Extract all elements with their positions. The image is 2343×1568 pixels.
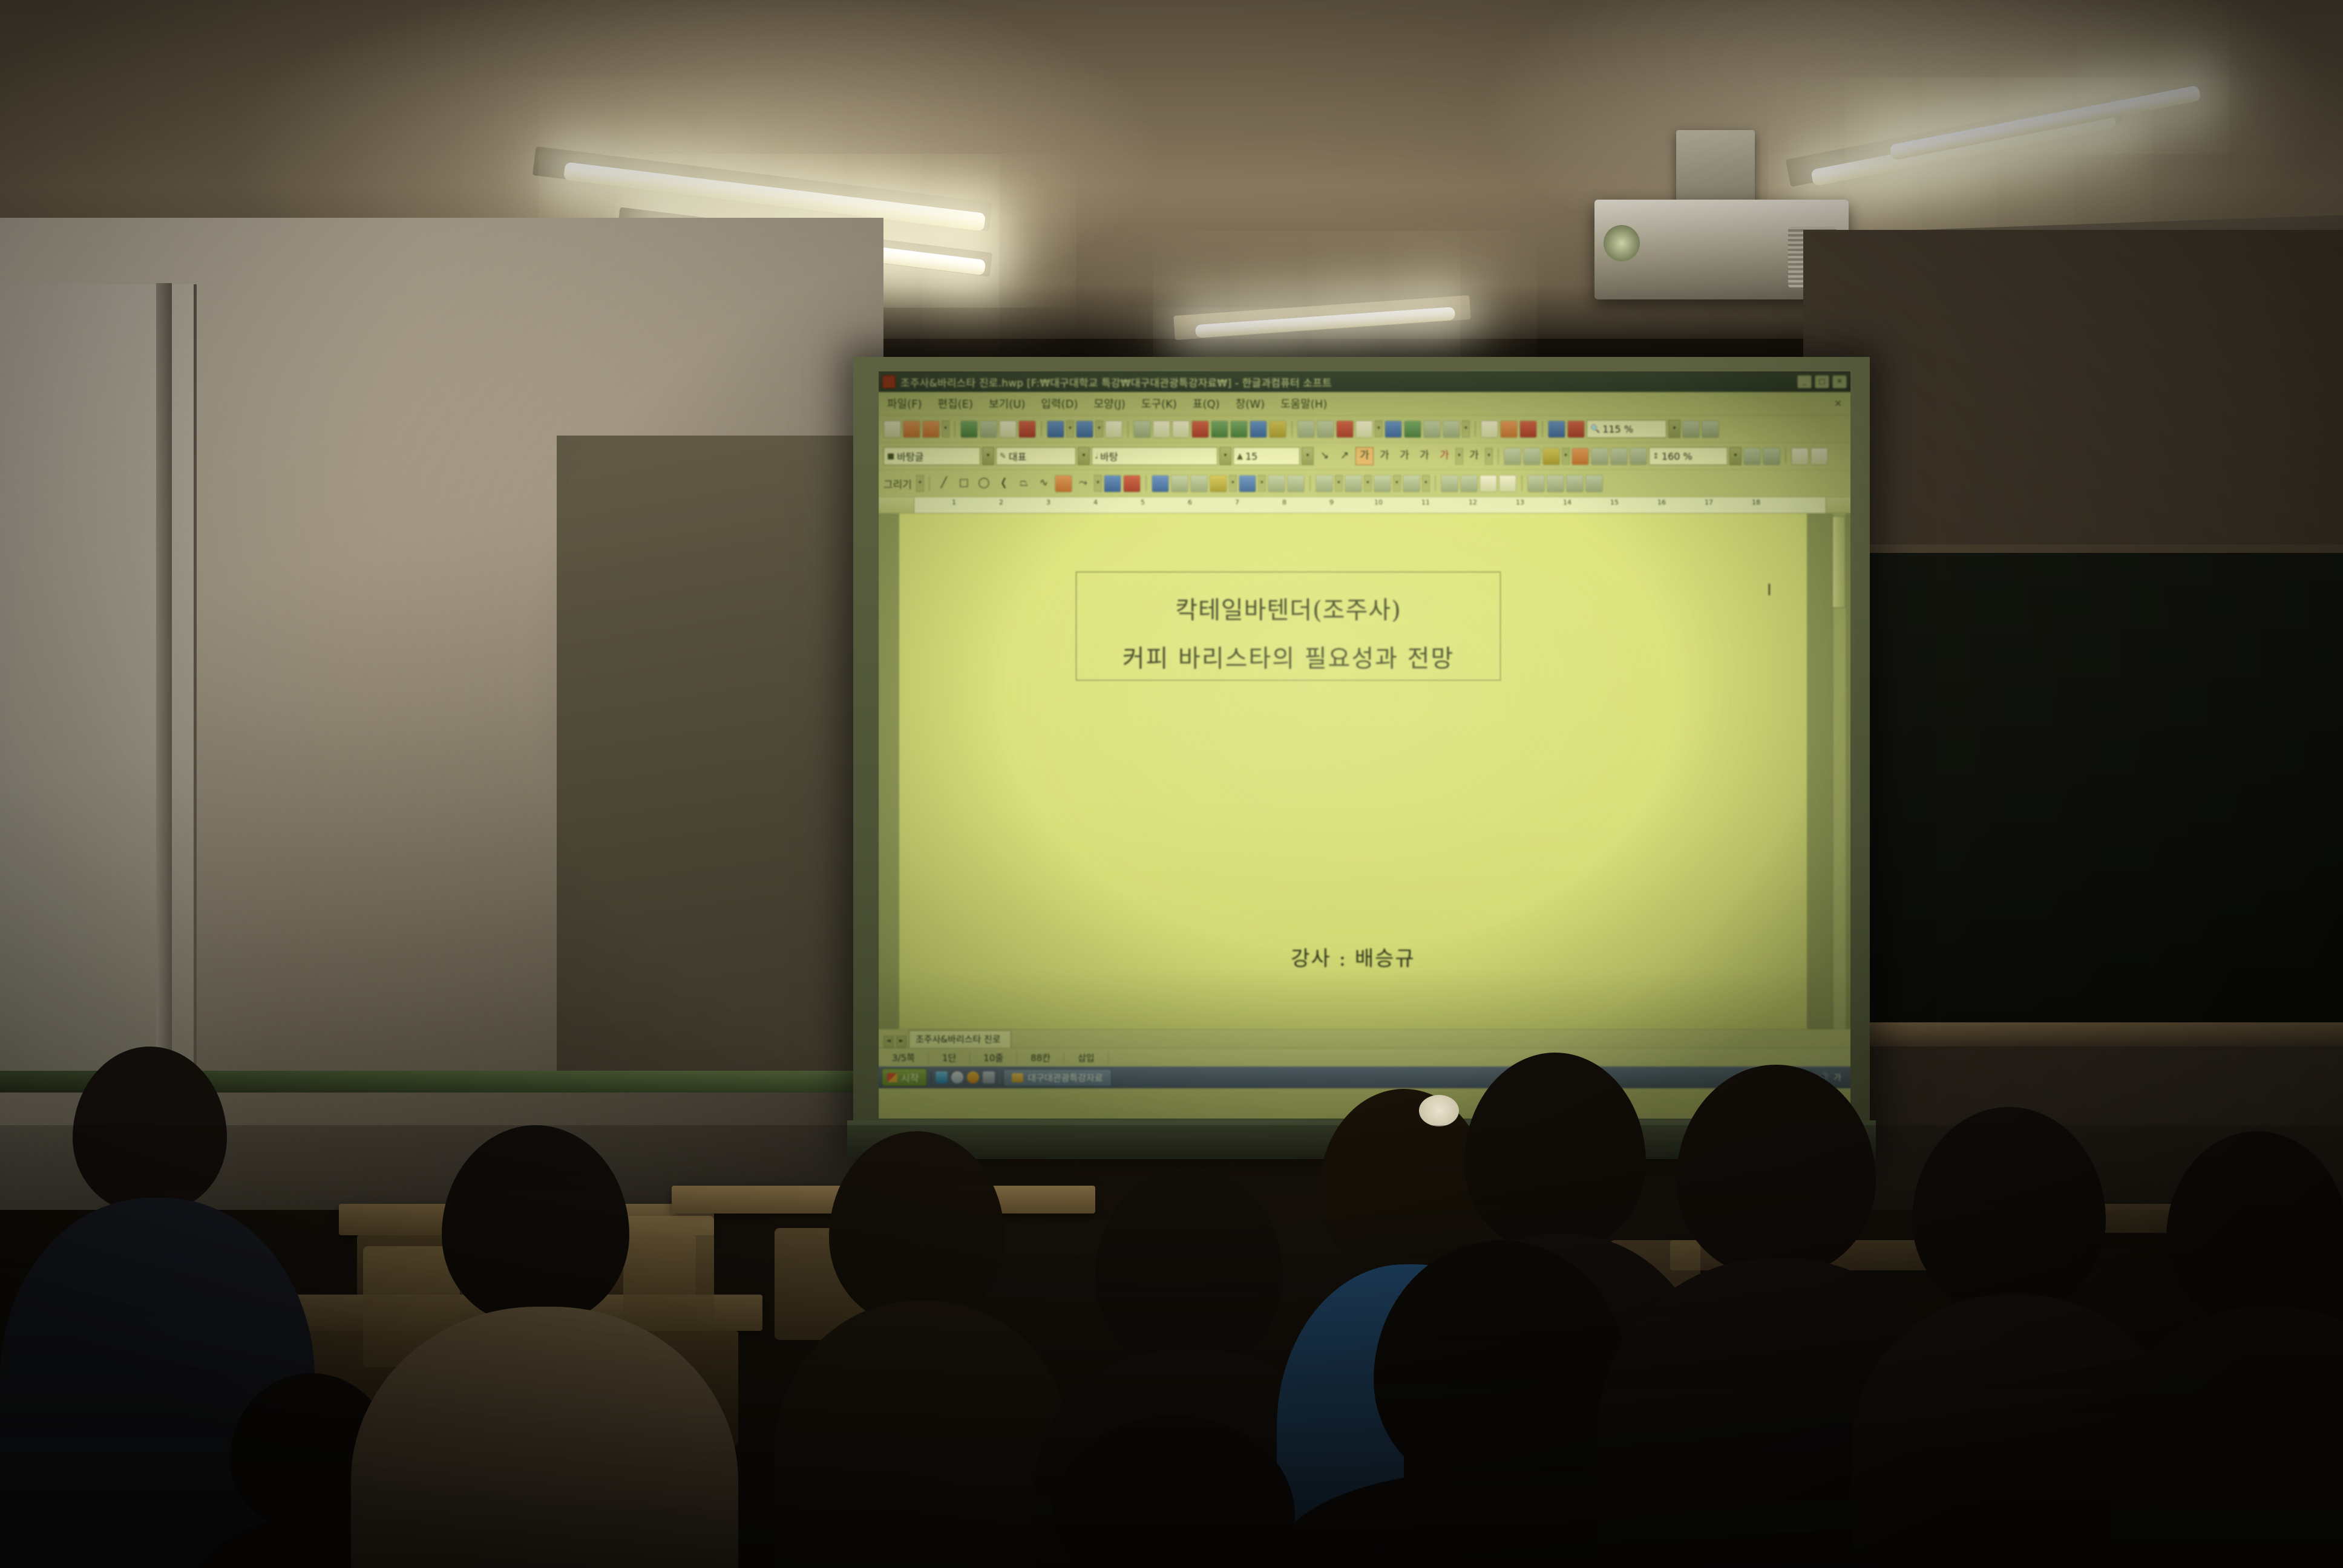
document-tab[interactable]: 조주사&바리스타 진로	[909, 1030, 1011, 1048]
close-document-icon[interactable]: ✕	[1834, 398, 1842, 409]
flip-tool-icon[interactable]	[1190, 475, 1208, 492]
align-right-icon[interactable]	[1610, 448, 1628, 465]
undo-icon[interactable]	[1047, 420, 1064, 438]
line-color-dropdown-icon[interactable]: ▾	[1258, 475, 1266, 492]
ruler-tick-7: 7	[1235, 498, 1239, 506]
minimize-button[interactable]: _	[1797, 375, 1812, 388]
table-dropdown-icon[interactable]: ▾	[1375, 420, 1383, 437]
hancom-icon	[882, 375, 896, 388]
ruler-tick-2: 2	[999, 498, 1003, 506]
footnote-icon[interactable]	[1423, 420, 1441, 438]
bookmark-icon[interactable]	[1481, 420, 1498, 438]
fill-color-dropdown-icon[interactable]: ▾	[1229, 475, 1237, 492]
window-title-bar: 조주사&바리스타 진로.hwp [F:₩대구대학교 특강₩대구대관광특강자료₩]…	[879, 371, 1850, 392]
format-brush-icon[interactable]	[1191, 420, 1209, 438]
ime-icon[interactable]: 가	[1833, 1071, 1841, 1083]
windows-taskbar: 시작 대구대관광특강자료 🔊 가	[879, 1067, 1850, 1088]
order-back-icon[interactable]	[1547, 475, 1564, 492]
toolbar-separator	[1435, 475, 1436, 491]
spell-icon[interactable]	[1230, 420, 1248, 438]
audience-shoulders	[775, 1301, 1071, 1568]
ruler-tick-13: 13	[1516, 498, 1524, 506]
font-size-value: 15	[1245, 451, 1257, 462]
toolbar-separator	[1498, 448, 1499, 464]
polygon-tool-icon[interactable]: ⏢	[1015, 474, 1033, 492]
horizontal-ruler[interactable]: 1 2 3 4 5 6 7 8 9 10 11 12 13 14 15 16 1…	[879, 497, 1850, 514]
ruler-tick-6: 6	[1188, 498, 1192, 506]
numbering-icon[interactable]	[1810, 448, 1828, 465]
paragraph-style-value: 바탕글	[897, 449, 923, 463]
tab-next-button[interactable]: ►	[896, 1036, 906, 1048]
menu-item-help[interactable]: 도움말(H)	[1280, 396, 1327, 411]
ruler-track[interactable]: 1 2 3 4 5 6 7 8 9 10 11 12 13 14 15 16 1…	[914, 497, 1826, 513]
toolbar-separator	[929, 475, 930, 491]
line-spacing-dropdown[interactable]: ▾	[1729, 447, 1742, 465]
line-color-tool-icon[interactable]	[1239, 475, 1256, 492]
open-icon[interactable]	[903, 420, 920, 438]
outline-dropdown-icon[interactable]: ▾	[1455, 448, 1463, 465]
close-button[interactable]: ✕	[1832, 375, 1847, 388]
toolbar-separator	[1785, 448, 1786, 464]
char-style-icon: ✎	[1000, 452, 1006, 461]
screen-icon[interactable]	[1548, 420, 1565, 438]
ole-tool-icon[interactable]	[1480, 475, 1497, 492]
ellipse-tool-icon[interactable]: ◯	[975, 474, 993, 492]
arc-tool-icon[interactable]: ❬	[995, 474, 1013, 492]
window-buttons: _ □ ✕	[1797, 375, 1847, 388]
field-icon[interactable]	[1269, 420, 1286, 438]
style-icon: ■	[887, 452, 894, 461]
title-text-box[interactable]: 칵테일바텐더(조주사) 커피 바리스타의 필요성과 전망	[1076, 572, 1501, 681]
save-icon[interactable]	[922, 420, 940, 438]
menu-item-table[interactable]: 표(Q)	[1193, 396, 1220, 411]
browser-icon[interactable]	[936, 1071, 948, 1083]
menu-item-edit[interactable]: 편집(E)	[938, 396, 974, 411]
font-icon: 𝅘𝅥	[1095, 452, 1098, 461]
new-doc-icon[interactable]	[883, 420, 901, 438]
font-size-increase-button[interactable]: ↗	[1335, 447, 1354, 465]
speaker-line: 강사 : 배승규	[1214, 942, 1492, 972]
paragraph-style-combo[interactable]: ■ 바탕글	[883, 447, 980, 465]
menu-item-file[interactable]: 파일(F)	[887, 396, 922, 411]
spacing-decrease-icon[interactable]	[1743, 448, 1761, 465]
mail-icon[interactable]	[951, 1071, 963, 1083]
highlight-icon[interactable]	[1542, 448, 1560, 465]
align-left-icon[interactable]	[1571, 448, 1589, 465]
document-page[interactable]: 칵테일바텐더(조주사) 커피 바리스타의 필요성과 전망 I 강사 : 배승규	[899, 514, 1807, 1029]
font-size-dropdown[interactable]: ▾	[1302, 447, 1314, 465]
line-style-tool-icon[interactable]	[1268, 475, 1285, 492]
status-bar: 3/5쪽 1단 10줄 88칸 삽입	[879, 1048, 1850, 1067]
hair-clip	[1419, 1095, 1459, 1126]
pdf-icon[interactable]	[1018, 420, 1036, 438]
hyperlink-dropdown-icon[interactable]: ▾	[1462, 420, 1470, 437]
outline-button[interactable]: 가	[1435, 447, 1453, 465]
align-tool-icon[interactable]	[1403, 475, 1420, 492]
arrange-dropdown-icon[interactable]: ▾	[1364, 475, 1372, 492]
line-spacing-value: 160 %	[1662, 451, 1693, 462]
taskbar-item-label: 대구대관광특강자료	[1027, 1071, 1103, 1084]
table-icon[interactable]	[1355, 420, 1373, 438]
caption-tool-icon[interactable]	[1499, 475, 1516, 492]
start-button[interactable]: 시작	[882, 1068, 927, 1086]
status-column: 1단	[929, 1051, 970, 1064]
spacing-increase-icon[interactable]	[1763, 448, 1780, 465]
menu-item-shape[interactable]: 모양(J)	[1093, 396, 1125, 411]
rectangle-tool-icon[interactable]: □	[955, 474, 973, 492]
char-style-value: 대표	[1009, 449, 1026, 463]
quick-launch-bar	[931, 1071, 1000, 1083]
toolbar-separator	[1521, 475, 1522, 491]
order-front-icon[interactable]	[1527, 475, 1545, 492]
toolbar-separator	[1542, 421, 1543, 437]
equation-icon[interactable]	[1404, 420, 1421, 438]
chart-icon[interactable]	[1384, 420, 1402, 438]
ruler-tick-11: 11	[1421, 498, 1430, 506]
highlight-dropdown-icon[interactable]: ▾	[1562, 448, 1570, 465]
menu-item-tools[interactable]: 도구(K)	[1141, 396, 1177, 411]
line-spacing-combo[interactable]: ↕ 160 %	[1649, 447, 1728, 465]
chair-left-b	[623, 1216, 714, 1331]
select-tool-icon[interactable]	[1152, 475, 1169, 492]
undo-dropdown-icon[interactable]: ▾	[1066, 420, 1074, 437]
ruler-tick-18: 18	[1752, 498, 1760, 506]
zoom-out-icon[interactable]	[1682, 420, 1700, 438]
font-size-icon: ▲	[1237, 452, 1243, 461]
picture-tool-icon[interactable]	[1104, 475, 1121, 492]
document-title-line-2: 커피 바리스타의 필요성과 전망	[1076, 639, 1500, 674]
folder-icon	[1012, 1073, 1023, 1082]
line-width-tool-icon[interactable]	[1287, 475, 1305, 492]
ruler-tick-17: 17	[1705, 498, 1713, 506]
align-tool-dropdown-icon[interactable]: ▾	[1422, 475, 1430, 492]
toolbar-separator	[1309, 475, 1311, 491]
toolbar-separator	[954, 421, 955, 437]
status-page: 3/5쪽	[879, 1051, 929, 1064]
vertical-scrollbar-thumb[interactable]	[1832, 516, 1846, 608]
zoom-value: 115 %	[1602, 423, 1633, 435]
textbox-tool-icon[interactable]	[1123, 475, 1141, 492]
effects-tool-icon[interactable]	[1460, 475, 1478, 492]
shading-icon[interactable]	[1523, 448, 1541, 465]
underline-button[interactable]: 가	[1395, 447, 1414, 465]
window-title: 조주사&바리스타 진로.hwp [F:₩대구대학교 특강₩대구대관광특강자료₩]…	[900, 374, 1792, 390]
shadow-tool-icon[interactable]	[1316, 475, 1333, 492]
superscript-button[interactable]: 가	[1465, 447, 1483, 465]
pencil-tool-icon[interactable]	[1055, 475, 1072, 492]
curve-tool-icon[interactable]: ∿	[1035, 474, 1053, 492]
zoom-combo[interactable]: 🔍 115 %	[1587, 420, 1666, 438]
shape-icon[interactable]	[1519, 420, 1537, 438]
projected-application: 조주사&바리스타 진로.hwp [F:₩대구대학교 특강₩대구대관광특강자료₩]…	[879, 371, 1850, 1119]
toolbar-separator	[1475, 421, 1476, 437]
group-dropdown-icon[interactable]: ▾	[1393, 475, 1401, 492]
magnifier-icon: 🔍	[1590, 425, 1600, 434]
drawing-menu-dropdown-icon[interactable]: ▾	[916, 475, 924, 492]
drawing-toolbar: 그리기 ▾ ╱ □ ◯ ❬ ⏢ ∿ ⤳ ▾ ▾ ▾ ▾	[879, 470, 1850, 497]
print-icon[interactable]	[960, 420, 978, 438]
preview-icon[interactable]	[980, 420, 997, 438]
toolbar-separator	[1291, 421, 1293, 437]
group-tool-icon[interactable]	[1374, 475, 1391, 492]
crop-tool-icon[interactable]	[1441, 475, 1458, 492]
menu-item-window[interactable]: 창(W)	[1236, 396, 1265, 411]
paragraph-style-dropdown[interactable]: ▾	[982, 447, 994, 465]
fill-color-tool-icon[interactable]	[1210, 475, 1227, 492]
toolbar-separator	[1127, 421, 1129, 437]
ruler-tick-4: 4	[1093, 498, 1098, 506]
find-icon[interactable]	[1211, 420, 1228, 438]
ruler-tick-8: 8	[1282, 498, 1286, 506]
connector-tool-icon[interactable]: ⤳	[1074, 474, 1092, 492]
drawing-icon[interactable]	[1500, 420, 1518, 438]
status-insert-mode: 삽입	[1064, 1051, 1109, 1064]
redo-icon[interactable]	[1076, 420, 1093, 438]
desktop-icon[interactable]	[983, 1071, 995, 1083]
script-icon[interactable]	[1317, 420, 1334, 438]
wall-blackboard-right	[1870, 544, 2343, 1037]
font-size-combo[interactable]: ▲ 15	[1233, 447, 1300, 465]
char-shape-icon[interactable]	[1105, 420, 1122, 438]
paste-icon[interactable]	[1172, 420, 1190, 438]
line-tool-icon[interactable]: ╱	[935, 474, 953, 492]
document-tab-bar: ◄ ► 조주사&바리스타 진로	[879, 1029, 1850, 1048]
menu-item-view[interactable]: 보기(U)	[989, 396, 1025, 411]
help-icon[interactable]	[1567, 420, 1585, 438]
text-color-icon[interactable]	[1504, 448, 1521, 465]
char-style-combo[interactable]: ✎ 대표	[996, 447, 1076, 465]
arrange-tool-icon[interactable]	[1345, 475, 1362, 492]
ruler-tick-15: 15	[1610, 498, 1619, 506]
tab-prev-button[interactable]: ◄	[883, 1036, 894, 1048]
maximize-button[interactable]: □	[1815, 375, 1829, 388]
connector-dropdown-icon[interactable]: ▾	[1094, 475, 1102, 492]
ruler-tick-3: 3	[1046, 498, 1050, 506]
ruler-tick-16: 16	[1657, 498, 1666, 506]
projector-lens	[1604, 225, 1640, 261]
italic-button[interactable]: 가	[1375, 447, 1394, 465]
document-title-line-1: 칵테일바텐더(조주사)	[1076, 590, 1500, 626]
font-name-value: 바탕	[1100, 449, 1118, 463]
standard-toolbar: ▾ ▾ ▾ ▾	[879, 416, 1850, 443]
save-dropdown-icon[interactable]: ▾	[942, 420, 949, 437]
ruler-tick-9: 9	[1329, 498, 1334, 506]
ruler-tick-1: 1	[952, 498, 956, 506]
memo-icon[interactable]	[1250, 420, 1267, 438]
audience-head	[1095, 1168, 1283, 1367]
char-style-dropdown[interactable]: ▾	[1078, 447, 1090, 465]
ruler-tick-12: 12	[1469, 498, 1477, 506]
windows-flag-icon	[887, 1073, 897, 1082]
bold-button[interactable]: 가	[1355, 447, 1374, 465]
toolbar-separator	[1041, 421, 1042, 437]
align-center-icon[interactable]	[1591, 448, 1608, 465]
picture-icon[interactable]	[1336, 420, 1354, 438]
cut-icon[interactable]	[1133, 420, 1151, 438]
line-spacing-icon: ↕	[1653, 452, 1659, 461]
font-size-decrease-button[interactable]: ↘	[1316, 447, 1334, 465]
start-button-label: 시작	[901, 1070, 919, 1085]
drawing-toolbar-label[interactable]: 그리기	[883, 476, 914, 491]
ruler-tick-5: 5	[1141, 498, 1145, 506]
frame-icon[interactable]	[1297, 420, 1315, 438]
menu-item-input[interactable]: 입력(D)	[1041, 396, 1078, 411]
text-wrap-icon[interactable]	[1566, 475, 1584, 492]
copy-icon[interactable]	[1153, 420, 1170, 438]
shadow-dropdown-icon[interactable]: ▾	[1335, 475, 1343, 492]
blackboard-tray	[1870, 1022, 2343, 1047]
zoom-in-icon[interactable]	[1702, 420, 1719, 438]
align-justify-icon[interactable]	[1630, 448, 1647, 465]
document-area[interactable]: 칵테일바텐더(조주사) 커피 바리스타의 필요성과 전망 I 강사 : 배승규	[879, 514, 1850, 1029]
ruler-tick-14: 14	[1563, 498, 1571, 506]
rotate-tool-icon[interactable]	[1171, 475, 1188, 492]
toolbar-separator	[1145, 475, 1147, 491]
status-line: 10줄	[970, 1051, 1017, 1064]
ruler-tick-10: 10	[1374, 498, 1383, 506]
bullets-icon[interactable]	[1791, 448, 1809, 465]
zoom-dropdown-button[interactable]: ▾	[1668, 420, 1680, 438]
hyperlink-icon[interactable]	[1443, 420, 1460, 438]
page-setup-icon[interactable]	[999, 420, 1017, 438]
whiteboard-frame	[156, 283, 172, 1088]
strikethrough-button[interactable]: 가	[1415, 447, 1434, 465]
format-toolbar: ■ 바탕글 ▾ ✎ 대표 ▾ 𝅘𝅥 바탕 ▾ ▲ 15 ▾ ↘ ↗ 가 가 가	[879, 443, 1850, 470]
menu-bar: 파일(F) 편집(E) 보기(U) 입력(D) 모양(J) 도구(K) 표(Q)…	[879, 392, 1850, 416]
superscript-dropdown-icon[interactable]: ▾	[1485, 448, 1493, 465]
font-name-combo[interactable]: 𝅘𝅥 바탕	[1092, 447, 1217, 465]
media-icon[interactable]	[967, 1071, 979, 1083]
audience-shoulders	[2112, 1307, 2343, 1568]
taskbar-item-folder[interactable]: 대구대관광특강자료	[1003, 1069, 1111, 1086]
text-caret: I	[1767, 581, 1772, 599]
redo-dropdown-icon[interactable]: ▾	[1095, 420, 1103, 437]
object-property-icon[interactable]	[1585, 475, 1603, 492]
font-name-dropdown[interactable]: ▾	[1219, 447, 1231, 465]
status-char: 88칸	[1017, 1051, 1064, 1064]
lecture-hall-photo: 조주사&바리스타 진로.hwp [F:₩대구대학교 특강₩대구대관광특강자료₩]…	[0, 0, 2343, 1568]
